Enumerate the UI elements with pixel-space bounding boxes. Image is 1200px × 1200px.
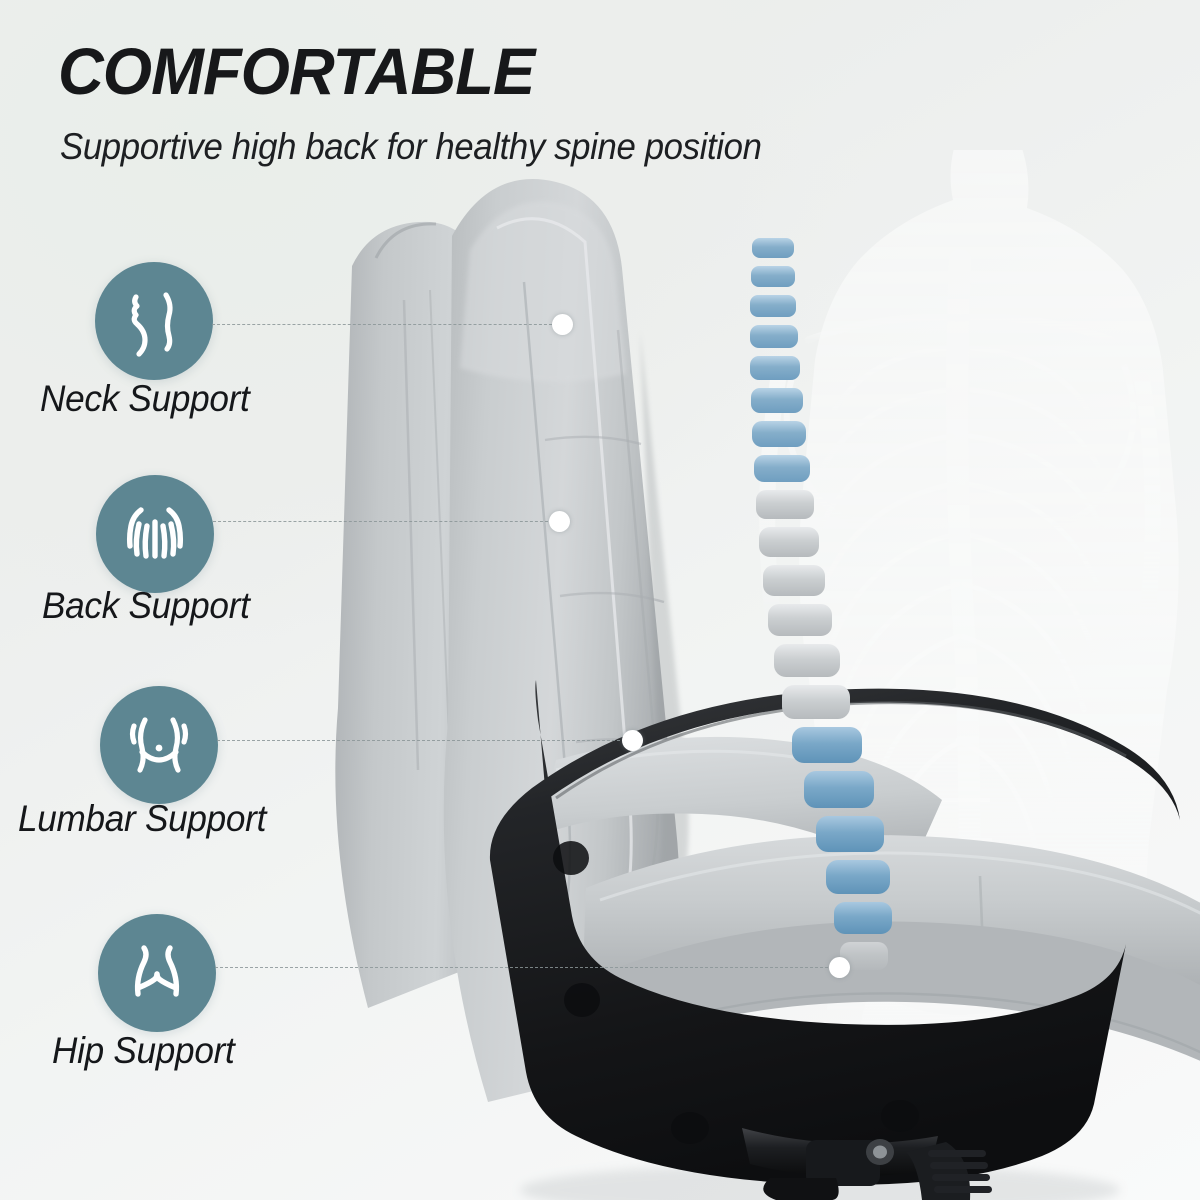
- back-support-badge[interactable]: [96, 475, 214, 593]
- hotspot-dot-lumbar-support[interactable]: [622, 730, 643, 751]
- neck-spine-icon: [117, 284, 191, 358]
- infographic-canvas: Neck Support Back Support: [0, 0, 1200, 1200]
- label-neck-support: Neck Support: [40, 378, 250, 420]
- page-title: COMFORTABLE: [58, 33, 534, 109]
- page-subtitle: Supportive high back for healthy spine p…: [60, 126, 762, 168]
- lumbar-support-badge[interactable]: [100, 686, 218, 804]
- label-hip-support: Hip Support: [52, 1030, 234, 1072]
- label-lumbar-support: Lumbar Support: [18, 798, 266, 840]
- hotspot-dot-hip-support[interactable]: [829, 957, 850, 978]
- waist-lumbar-icon: [120, 706, 198, 784]
- neck-support-badge[interactable]: [95, 262, 213, 380]
- upper-back-icon: [117, 496, 193, 572]
- hotspot-dot-neck-support[interactable]: [552, 314, 573, 335]
- hip-support-badge[interactable]: [98, 914, 216, 1032]
- lead-line-neck-support: [212, 324, 557, 325]
- segmented-spine-graphic: [700, 230, 980, 990]
- lead-line-hip-support: [215, 967, 833, 968]
- hips-icon: [118, 934, 196, 1012]
- lead-line-back-support: [213, 521, 553, 522]
- label-back-support: Back Support: [42, 585, 250, 627]
- lead-line-lumbar-support: [217, 740, 625, 741]
- hotspot-dot-back-support[interactable]: [549, 511, 570, 532]
